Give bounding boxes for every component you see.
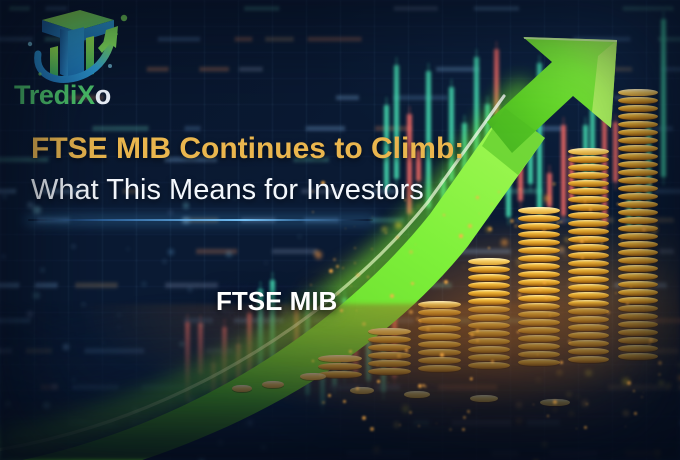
ticker-label: FTSE MIB [216, 286, 337, 317]
brand-name-part3: o [95, 80, 111, 110]
brand-name-part2: X [77, 80, 95, 110]
headline-line-1: FTSE MIB Continues to Climb: [31, 132, 464, 166]
trendi-t-growth-arrow-logo-icon [14, 4, 134, 86]
promo-banner: TrediXo FTSE MIB Continues to Climb: Wha… [0, 0, 680, 460]
headline-divider [28, 219, 373, 221]
brand-logo[interactable]: TrediXo [14, 4, 134, 116]
brand-name-part1: Tredi [14, 80, 77, 110]
headline-line-2: What This Means for Investors [31, 174, 424, 207]
